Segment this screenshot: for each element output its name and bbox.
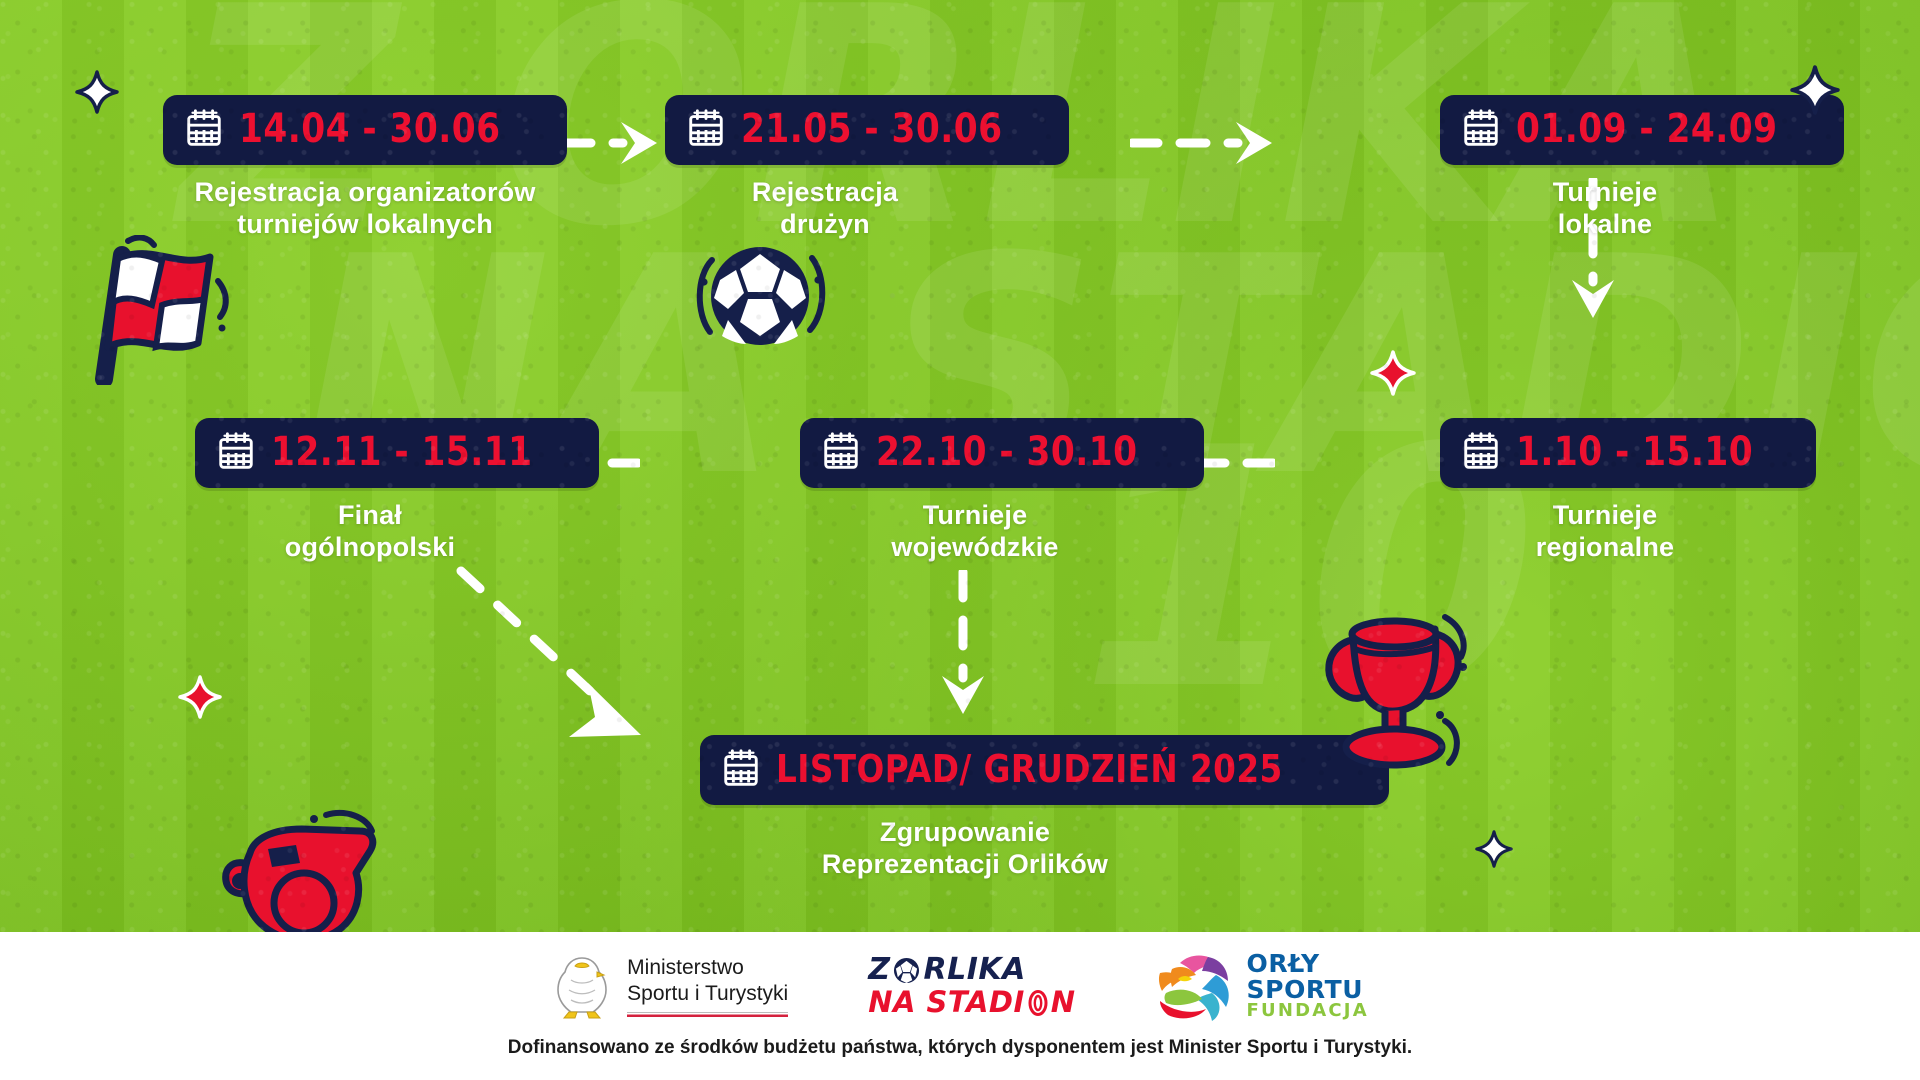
- calendar-icon: [1460, 108, 1502, 150]
- caption-line-2: ogólnopolski: [195, 532, 545, 564]
- timeline-node-3[interactable]: 01.09 - 24.09 Turnieje lokalne: [1440, 95, 1770, 240]
- caption-line-2: turniejów lokalnych: [155, 209, 575, 241]
- orly-line-2: SPORTU: [1247, 977, 1369, 1003]
- node-caption: Turnieje lokalne: [1440, 177, 1770, 240]
- orlik-line-1-b: RLIKA: [923, 955, 1025, 985]
- date-badge[interactable]: 22.10 - 30.10: [800, 418, 1204, 488]
- date-badge[interactable]: 14.04 - 30.06: [163, 95, 567, 165]
- orlik-line-2-b: N: [1051, 988, 1076, 1017]
- date-badge[interactable]: 01.09 - 24.09: [1440, 95, 1844, 165]
- date-badge[interactable]: LISTOPAD/ GRUDZIEŃ 2025: [700, 735, 1389, 805]
- calendar-icon: [1460, 431, 1502, 473]
- timeline-node-6[interactable]: 1.10 - 15.10 Turnieje regionalne: [1440, 418, 1770, 563]
- calendar-icon: [820, 431, 862, 473]
- node-caption: Turnieje wojewódzkie: [800, 500, 1150, 563]
- date-badge[interactable]: 12.11 - 15.11: [195, 418, 599, 488]
- funding-note: Dofinansowano ze środków budżetu państwa…: [0, 1037, 1920, 1059]
- calendar-icon: [215, 431, 257, 473]
- polish-eagle-icon: [551, 950, 613, 1022]
- date-text: 1.10 - 15.10: [1516, 432, 1753, 472]
- node-caption: Zgrupowanie Reprezentacji Orlików: [700, 817, 1230, 880]
- caption-line-1: Rejestracja organizatorów: [155, 177, 575, 209]
- timeline-node-1[interactable]: 14.04 - 30.06 Rejestracja organizatorów …: [155, 95, 575, 240]
- sparkle-icon: [1370, 350, 1416, 396]
- orly-logo-text: ORŁY SPORTU FUNDACJA: [1247, 951, 1369, 1020]
- date-text: 22.10 - 30.10: [876, 432, 1137, 472]
- z-orlika-na-stadion-logo: Z RLIKA NA STADI N: [868, 955, 1075, 1017]
- timeline-node-5[interactable]: 22.10 - 30.10 Turnieje wojewódzkie: [800, 418, 1150, 563]
- caption-line-2: lokalne: [1440, 209, 1770, 241]
- date-text: 14.04 - 30.06: [239, 109, 500, 149]
- caption-line-1: Rejestracja: [665, 177, 985, 209]
- timeline-node-7[interactable]: LISTOPAD/ GRUDZIEŃ 2025 Zgrupowanie Repr…: [700, 735, 1230, 880]
- date-badge[interactable]: 21.05 - 30.06: [665, 95, 1069, 165]
- orly-line-1: ORŁY: [1247, 951, 1369, 977]
- caption-line-1: Turnieje: [800, 500, 1150, 532]
- ministry-logo-text: Ministerstwo Sportu i Turystyki: [627, 955, 788, 1016]
- orlik-line-2-a: NA STADI: [868, 988, 1025, 1017]
- orly-sportu-logo: ORŁY SPORTU FUNDACJA: [1156, 949, 1369, 1023]
- date-text: 12.11 - 15.11: [271, 432, 532, 472]
- footer-logo-row: Ministerstwo Sportu i Turystyki Z RLIKA …: [0, 946, 1920, 1026]
- calendar-icon: [183, 108, 225, 150]
- date-text: LISTOPAD/ GRUDZIEŃ 2025: [776, 750, 1283, 788]
- sparkle-icon: [178, 675, 222, 719]
- ministry-logo-rule: [627, 1012, 788, 1017]
- polish-flag-icon: [70, 235, 240, 385]
- orlik-line-1-a: Z: [868, 955, 890, 985]
- ministry-line-2: Sportu i Turystyki: [627, 981, 788, 1007]
- caption-line-2: Reprezentacji Orlików: [700, 849, 1230, 881]
- timeline-node-4[interactable]: 12.11 - 15.11 Finał ogólnopolski: [195, 418, 545, 563]
- calendar-icon: [720, 748, 762, 790]
- node-caption: Rejestracja organizatorów turniejów loka…: [155, 177, 575, 240]
- colorful-eagle-icon: [1156, 949, 1236, 1023]
- connector-node2-to-node3: [1130, 120, 1280, 166]
- timeline-node-2[interactable]: 21.05 - 30.06 Rejestracja drużyn: [665, 95, 985, 240]
- soccer-ball-icon: [893, 957, 920, 984]
- connector-node4-to-node7: [455, 565, 685, 770]
- soccer-ball-icon: [690, 238, 830, 358]
- orlik-line-1: Z RLIKA: [868, 955, 1026, 985]
- whistle-icon: [210, 805, 395, 932]
- sparkle-icon: [1475, 830, 1513, 868]
- caption-line-2: regionalne: [1440, 532, 1770, 564]
- caption-line-1: Zgrupowanie: [700, 817, 1230, 849]
- footer: Ministerstwo Sportu i Turystyki Z RLIKA …: [0, 932, 1920, 1080]
- ministry-logo: Ministerstwo Sportu i Turystyki: [551, 950, 788, 1022]
- caption-line-2: drużyn: [665, 209, 985, 241]
- calendar-icon: [685, 108, 727, 150]
- node-caption: Rejestracja drużyn: [665, 177, 985, 240]
- caption-line-1: Finał: [195, 500, 545, 532]
- orly-line-3: FUNDACJA: [1247, 1002, 1369, 1020]
- node-caption: Finał ogólnopolski: [195, 500, 545, 563]
- sparkle-icon: [75, 70, 119, 114]
- date-badge[interactable]: 1.10 - 15.10: [1440, 418, 1816, 488]
- node-caption: Turnieje regionalne: [1440, 500, 1770, 563]
- orlik-line-2: NA STADI N: [868, 988, 1075, 1017]
- caption-line-2: wojewódzkie: [800, 532, 1150, 564]
- ministry-line-1: Ministerstwo: [627, 955, 788, 981]
- caption-line-1: Turnieje: [1440, 500, 1770, 532]
- date-text: 21.05 - 30.06: [741, 109, 1002, 149]
- caption-line-1: Turnieje: [1440, 177, 1770, 209]
- pitch-background: Z ORLIKA NA STADION 10: [0, 0, 1920, 932]
- date-text: 01.09 - 24.09: [1516, 109, 1777, 149]
- ball-outline-icon: [1028, 990, 1048, 1016]
- connector-node5-to-node7: [940, 570, 986, 720]
